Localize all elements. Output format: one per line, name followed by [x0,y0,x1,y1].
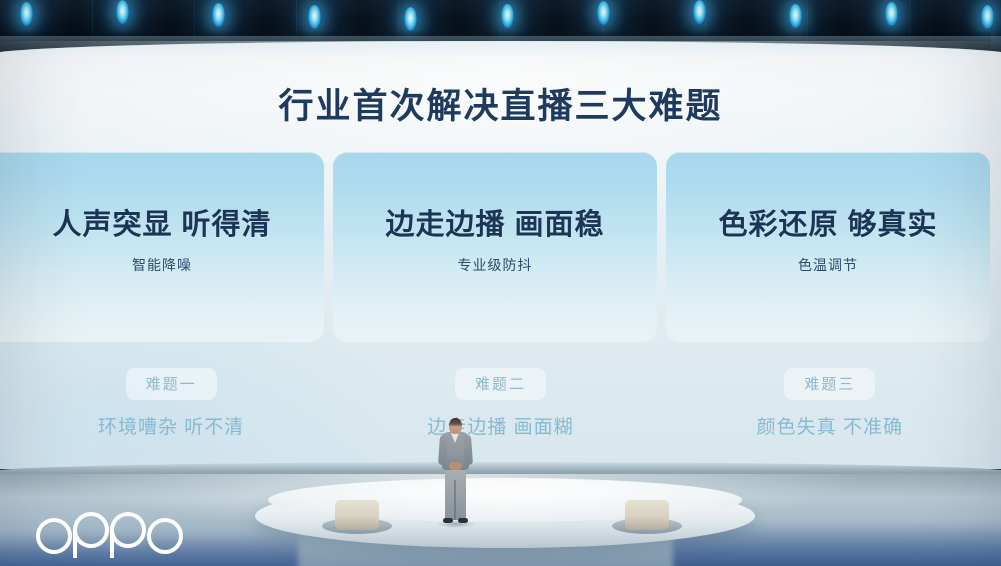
spotlight-icon [693,0,706,24]
spotlight-icon [20,2,33,26]
problem-column-2: 难题二 边走边播 画面糊 [340,368,660,448]
oppo-p1-stem [73,530,77,558]
solution-card-3-body: 色彩还原 够真实 色温调节 [666,210,990,275]
solution-cards-row: 人声突显 听得清 智能降噪 边走边播 画面稳 专业级防抖 色彩还原 够真实 色温… [11,152,990,342]
solution-card-2-body: 边走边播 画面稳 专业级防抖 [333,210,657,275]
solution-card-1-title: 人声突显 听得清 [0,210,324,242]
problem-badge-3: 难题三 [784,368,875,400]
solution-card-2: 边走边播 画面稳 专业级防抖 [333,152,657,342]
display-plinth-right [625,500,669,530]
presenter-leg-split [454,480,456,520]
problem-text-1: 环境嘈杂 听不清 [11,412,331,439]
presenter-head [449,418,462,434]
spotlight-icon [116,0,129,24]
spotlight-icon [597,1,610,25]
solution-card-1-body: 人声突显 听得清 智能降噪 [0,210,324,275]
solution-card-2-subtitle: 专业级防抖 [333,255,657,275]
problem-badge-2: 难题二 [455,368,546,400]
presenter-shoe-left [443,518,453,523]
stage-scene: 行业首次解决直播三大难题 人声突显 听得清 智能降噪 边走边播 画面稳 专业级防… [0,0,1001,566]
display-plinth-left [335,500,379,530]
spotlight-icon [789,4,802,28]
spotlight-icon [981,5,994,29]
oppo-logo [36,512,183,560]
solution-card-2-title: 边走边播 画面稳 [333,210,657,242]
spotlight-icon [885,2,898,26]
spotlight-icon [501,4,514,28]
presenter-arm-right [463,435,473,465]
oppo-p2-bowl [110,512,146,548]
problem-badge-1: 难题一 [126,368,217,400]
oppo-logo-letter-o1 [36,518,72,554]
problem-column-1: 难题一 环境嘈杂 听不清 [11,368,331,448]
oppo-p1-bowl [73,512,109,548]
presenter-hands [449,462,462,470]
oppo-logo-letter-p1 [73,512,109,560]
solution-card-1-subtitle: 智能降噪 [0,255,324,275]
problem-text-3: 颜色失真 不准确 [670,412,990,439]
problem-text-2: 边走边播 画面糊 [340,412,660,439]
presenter-shoe-right [458,518,468,523]
solution-card-3-title: 色彩还原 够真实 [666,210,990,242]
solution-card-3-subtitle: 色温调节 [666,255,990,275]
solution-card-1: 人声突显 听得清 智能降噪 [0,152,324,342]
presenter-figure [437,418,473,526]
problems-row: 难题一 环境嘈杂 听不清 难题二 边走边播 画面糊 难题三 颜色失真 不准确 [11,368,990,448]
oppo-logo-letter-o2 [147,518,183,554]
solution-card-3: 色彩还原 够真实 色温调节 [666,152,990,342]
oppo-p2-stem [110,530,114,558]
oppo-logo-letter-p2 [110,512,146,560]
page-title: 行业首次解决直播三大难题 [0,78,1001,129]
problem-column-3: 难题三 颜色失真 不准确 [670,368,990,448]
